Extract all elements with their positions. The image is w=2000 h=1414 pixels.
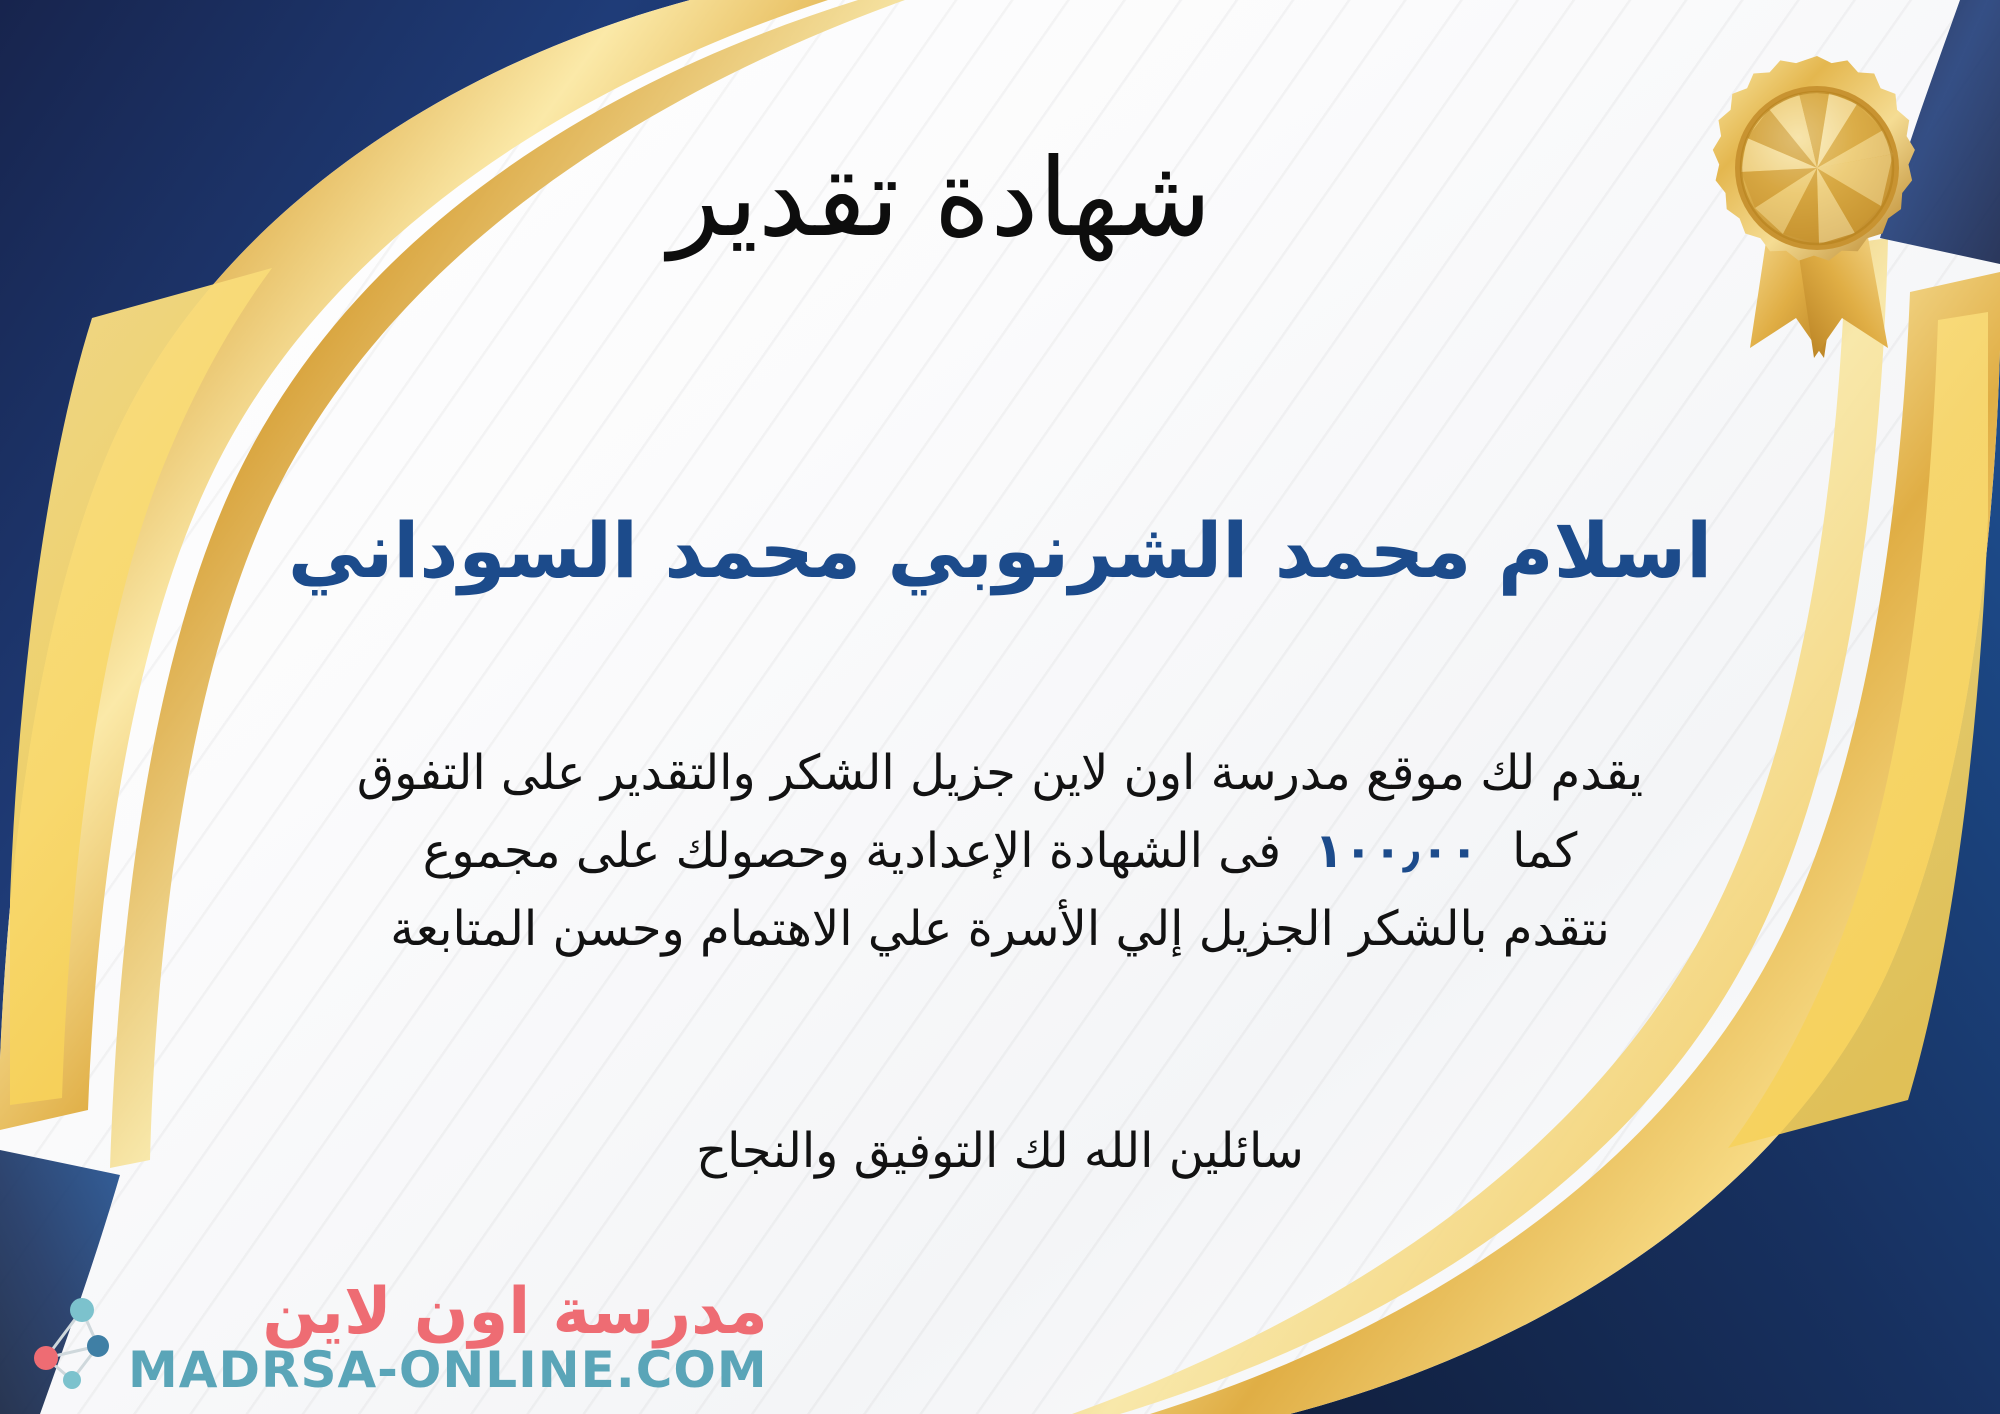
- certificate-body: يقدم لك موقع مدرسة اون لاين جزيل الشكر و…: [70, 735, 1930, 968]
- certificate-card: شهادة تقدير اسلام محمد الشرنوبي محمد الس…: [0, 0, 2000, 1414]
- brand-arabic-name: مدرسة اون لاين: [262, 1280, 767, 1344]
- recipient-name: اسلام محمد الشرنوبي محمد السوداني: [60, 505, 1940, 598]
- certificate-content: شهادة تقدير اسلام محمد الشرنوبي محمد الس…: [0, 0, 2000, 1414]
- score-value: ١٠٠٫٠٠: [1296, 823, 1496, 879]
- page-title: شهادة تقدير: [0, 140, 2000, 259]
- closing-wish: سائلين الله لك التوفيق والنجاح: [70, 1115, 1930, 1187]
- brand-website: MADRSA-ONLINE.COM: [128, 1344, 768, 1397]
- brand-text: مدرسة اون لاين MADRSA-ONLINE.COM: [128, 1280, 768, 1397]
- body-line-2: كما ١٠٠٫٠٠ فى الشهادة الإعدادية وحصولك ع…: [70, 813, 1930, 891]
- body-line-2-right: فى الشهادة الإعدادية وحصولك على مجموع: [423, 823, 1281, 879]
- body-line-2-left: كما: [1512, 823, 1577, 879]
- brand-logo[interactable]: مدرسة اون لاين MADRSA-ONLINE.COM: [22, 1280, 768, 1397]
- body-line-1: يقدم لك موقع مدرسة اون لاين جزيل الشكر و…: [70, 735, 1930, 813]
- body-line-3: نتقدم بالشكر الجزيل إلي الأسرة علي الاهت…: [70, 891, 1930, 969]
- network-nodes-icon: [22, 1286, 118, 1390]
